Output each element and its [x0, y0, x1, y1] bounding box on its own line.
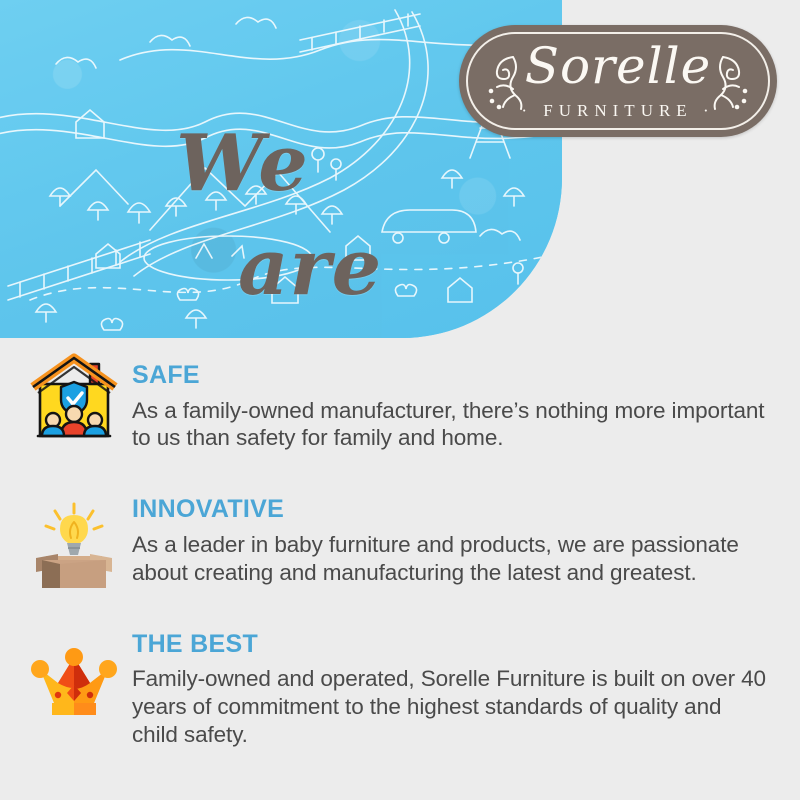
feature-description: As a leader in baby furniture and produc… [132, 531, 772, 587]
logo-subtitle: · FURNITURE · [459, 101, 777, 121]
feature-content: SAFE As a family-owned manufacturer, the… [120, 352, 800, 452]
feature-content: INNOVATIVE As a leader in baby furniture… [120, 486, 800, 586]
list-item: THE BEST Family-owned and operated, Sore… [0, 621, 800, 749]
feature-title: SAFE [132, 362, 800, 390]
lightbulb-in-box-icon [28, 498, 120, 594]
list-item: INNOVATIVE As a leader in baby furniture… [0, 486, 800, 586]
house-family-shield-icon [28, 352, 120, 448]
feature-title: INNOVATIVE [132, 496, 800, 524]
feature-title: THE BEST [132, 631, 800, 659]
crown-icon [28, 635, 120, 731]
feature-description: Family-owned and operated, Sorelle Furni… [132, 665, 772, 749]
logo-wordmark: Sorelle [459, 41, 777, 91]
infographic-page: We are [0, 0, 800, 800]
hero-word-are: are [238, 222, 382, 313]
feature-list: SAFE As a family-owned manufacturer, the… [0, 352, 800, 749]
list-item: SAFE As a family-owned manufacturer, the… [0, 352, 800, 452]
hero-word-we: We [176, 118, 309, 209]
brand-logo-badge[interactable]: Sorelle · FURNITURE · [459, 25, 777, 137]
feature-content: THE BEST Family-owned and operated, Sore… [120, 621, 800, 749]
feature-description: As a family-owned manufacturer, there’s … [132, 397, 772, 453]
